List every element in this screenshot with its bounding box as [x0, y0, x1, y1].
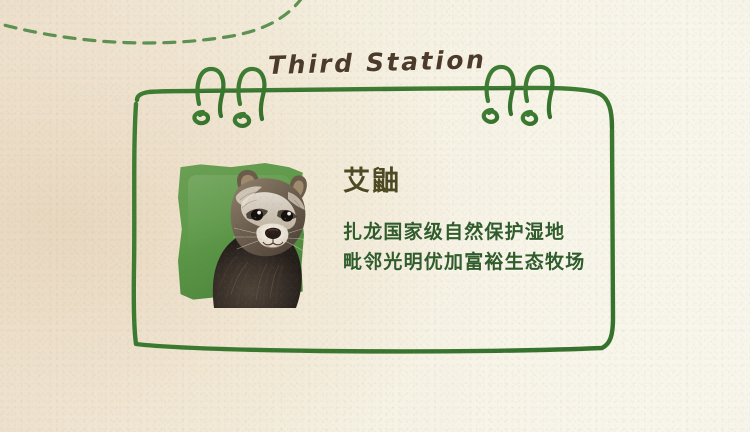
description-text: 扎龙国家级自然保护湿地: [343, 221, 565, 243]
animal-name: 艾鼬: [343, 167, 613, 197]
binder-ring-icon: [523, 67, 553, 124]
description-text: 毗邻光明优加富裕生态牧场: [343, 251, 585, 273]
animal-photo-block: [178, 163, 314, 307]
description-line-2: 毗邻光明优加富裕生态牧场: [343, 253, 613, 272]
ferret-photo: [206, 158, 314, 308]
station-card-page: Third Station: [0, 0, 750, 432]
binder-ring-icon: [235, 69, 265, 126]
binder-ring-icon: [194, 69, 223, 123]
animal-info: 艾鼬 扎龙国家级自然保护湿地 毗邻光明优加富裕生态牧场: [343, 167, 613, 272]
binder-ring-icon: [484, 67, 514, 122]
description-line-1: 扎龙国家级自然保护湿地: [343, 223, 613, 242]
page-title: Third Station: [268, 45, 487, 80]
